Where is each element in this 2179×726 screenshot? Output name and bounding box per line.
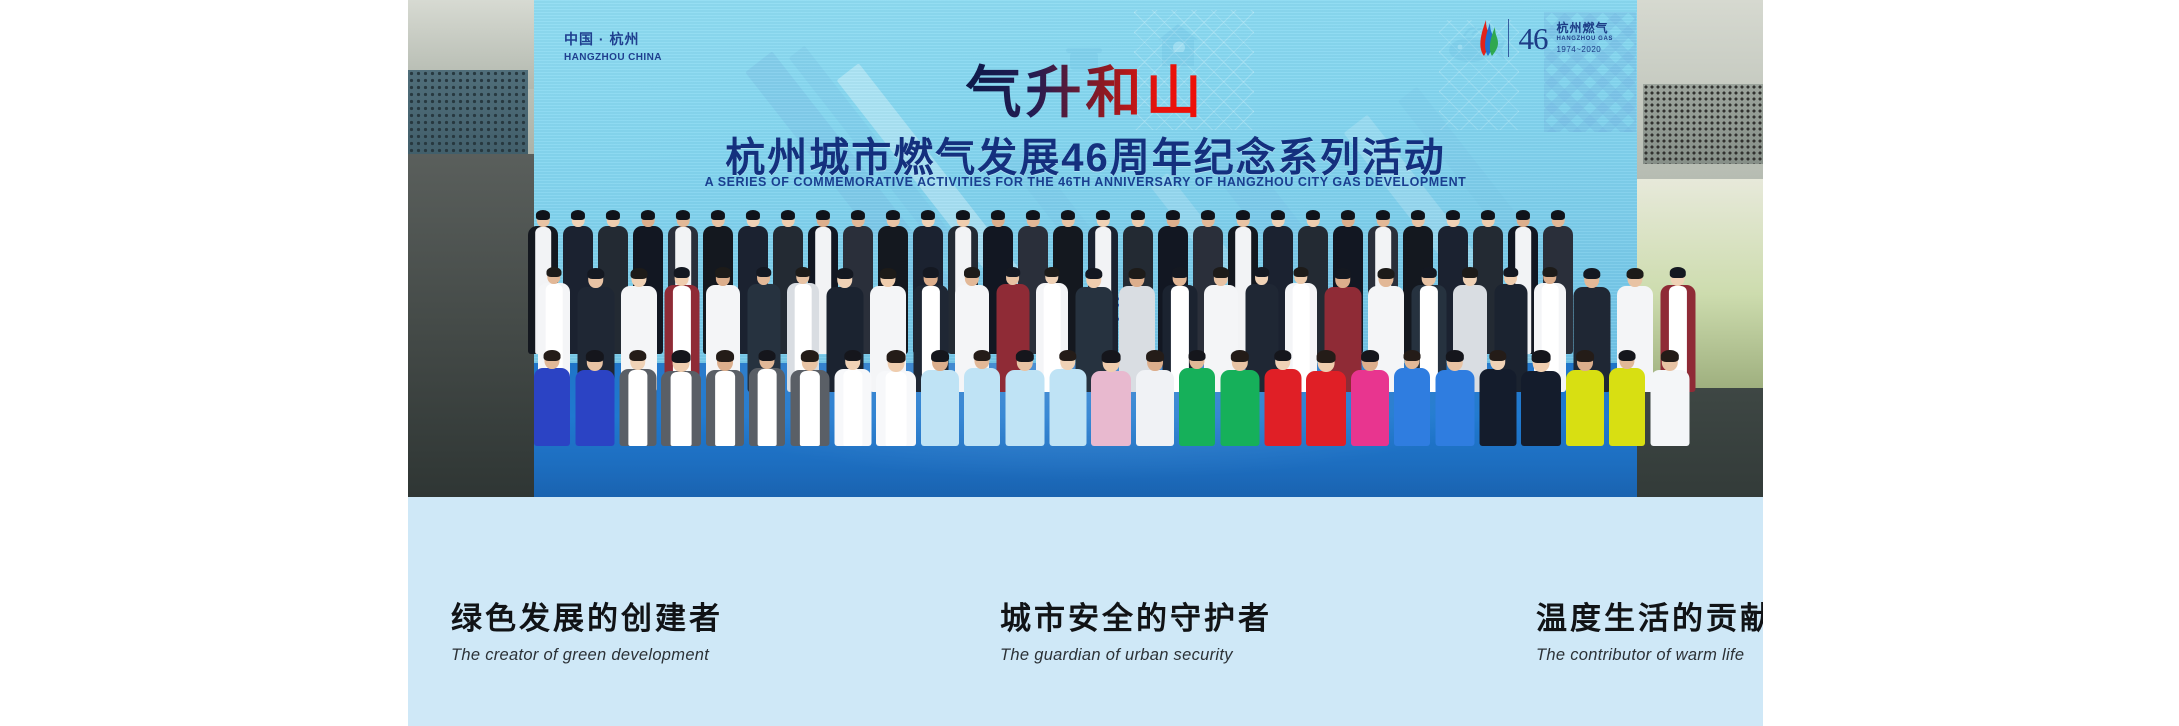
brand-text: 杭州燃气 HANGZHOU GAS 1974~2020 — [1556, 21, 1613, 55]
page-root: 中国 · 杭州 HANGZHOU CHINA 46 杭州燃气 HANGZHOU … — [0, 0, 2179, 726]
attendee — [749, 342, 785, 446]
attendee — [661, 342, 701, 446]
brand-divider — [1508, 19, 1509, 57]
attendee — [1650, 342, 1689, 446]
location-en: HANGZHOU CHINA — [564, 51, 662, 65]
flame-logo-icon — [1477, 18, 1499, 58]
attendee — [1435, 342, 1474, 446]
venue-grill-right — [1643, 84, 1763, 164]
commemorative-banner-content: 中国 · 杭州 HANGZHOU CHINA 46 杭州燃气 HANGZHOU … — [408, 0, 1763, 726]
slogan-2-cn: 城市安全的守护者 — [1000, 593, 1272, 638]
attendee — [1306, 342, 1346, 446]
attendee — [706, 342, 744, 446]
attendee — [1264, 342, 1301, 446]
attendee — [1136, 342, 1174, 446]
brand-lockup: 46 杭州燃气 HANGZHOU GAS 1974~2020 — [1477, 18, 1613, 58]
attendee — [1179, 342, 1215, 446]
group-photo: 中国 · 杭州 HANGZHOU CHINA 46 杭州燃气 HANGZHOU … — [408, 0, 1763, 497]
slogan-2-en: The guardian of urban security — [1000, 646, 1272, 665]
attendee — [1566, 342, 1604, 446]
venue-wall-left — [408, 154, 534, 497]
attendee — [1479, 342, 1516, 446]
attendee — [921, 342, 959, 446]
attendee — [575, 342, 614, 446]
attendee — [1351, 342, 1389, 446]
location-cn: 中国 · 杭州 — [564, 30, 662, 49]
slogan-3: 温度生活的贡献者 The contributor of warm life — [1536, 593, 1763, 665]
attendee — [1005, 342, 1044, 446]
brand-years: 1974~2020 — [1556, 45, 1613, 55]
attendee — [1609, 342, 1645, 446]
anniversary-number: 46 — [1518, 23, 1547, 54]
slogan-1-cn: 绿色发展的创建者 — [451, 593, 723, 638]
slogan-panel: 绿色发展的创建者 The creator of green developmen… — [408, 497, 1763, 726]
event-logotype: 气升和山 — [966, 48, 1206, 129]
attendee — [964, 342, 1000, 446]
attendee — [1521, 342, 1561, 446]
attendee — [1220, 342, 1259, 446]
attendee — [790, 342, 829, 446]
crowd-of-attendees — [534, 150, 1637, 450]
brand-name-cn: 杭州燃气 — [1556, 21, 1613, 36]
slogan-2: 城市安全的守护者 The guardian of urban security — [1000, 593, 1272, 665]
attendee — [534, 342, 570, 446]
attendee — [1049, 342, 1086, 446]
location-label: 中国 · 杭州 HANGZHOU CHINA — [564, 30, 662, 64]
attendee — [619, 342, 656, 446]
slogan-3-cn: 温度生活的贡献者 — [1536, 593, 1763, 638]
attendee — [876, 342, 916, 446]
slogan-1-en: The creator of green development — [451, 646, 723, 665]
attendee — [1394, 342, 1430, 446]
attendee — [1091, 342, 1131, 446]
slogan-3-en: The contributor of warm life — [1536, 646, 1763, 665]
brand-name-en: HANGZHOU GAS — [1556, 36, 1613, 44]
venue-grill-left — [408, 70, 528, 154]
slogan-1: 绿色发展的创建者 The creator of green developmen… — [451, 593, 723, 665]
attendee — [834, 342, 871, 446]
